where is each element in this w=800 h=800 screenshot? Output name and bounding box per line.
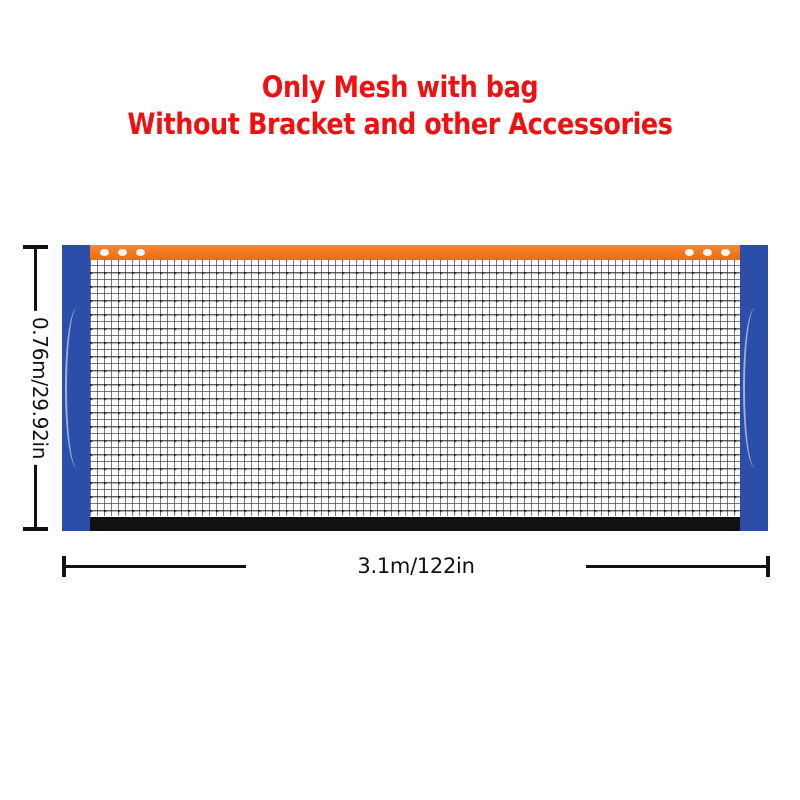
mesh-knot-overlay	[90, 258, 740, 516]
dimension-cap-right	[766, 556, 770, 577]
grommet-hole-icon	[136, 249, 145, 256]
grommet-hole-icon	[118, 249, 127, 256]
headline-line-2: Without Bracket and other Accessories	[48, 109, 752, 140]
grommet-hole-icon	[100, 249, 109, 256]
net-product-figure: Luspeed Luspeed	[62, 245, 768, 531]
dimension-line-left	[64, 565, 246, 568]
mesh-panel	[90, 245, 740, 531]
brand-label-right: Luspeed	[740, 377, 768, 483]
headline-line-1: Only Mesh with bag	[48, 72, 752, 103]
top-orange-band	[90, 245, 740, 260]
vertical-dimension-arrow: 0.76m/29.92in	[18, 245, 62, 531]
dimension-line-right	[586, 565, 768, 568]
left-side-panel: Luspeed	[62, 245, 90, 531]
bottom-black-band	[90, 517, 740, 531]
brand-label-left: Luspeed	[62, 377, 90, 483]
right-side-panel: Luspeed	[740, 245, 768, 531]
height-dimension-label: 0.76m/29.92in	[26, 311, 54, 465]
headline-block: Only Mesh with bag Without Bracket and o…	[0, 72, 800, 141]
grommet-hole-icon	[703, 249, 712, 256]
width-dimension-label: 3.1m/122in	[357, 552, 474, 580]
dimension-cap-bottom	[23, 527, 48, 531]
grommet-hole-icon	[685, 249, 694, 256]
horizontal-dimension-arrow: 3.1m/122in	[60, 552, 772, 582]
grommet-hole-icon	[721, 249, 730, 256]
